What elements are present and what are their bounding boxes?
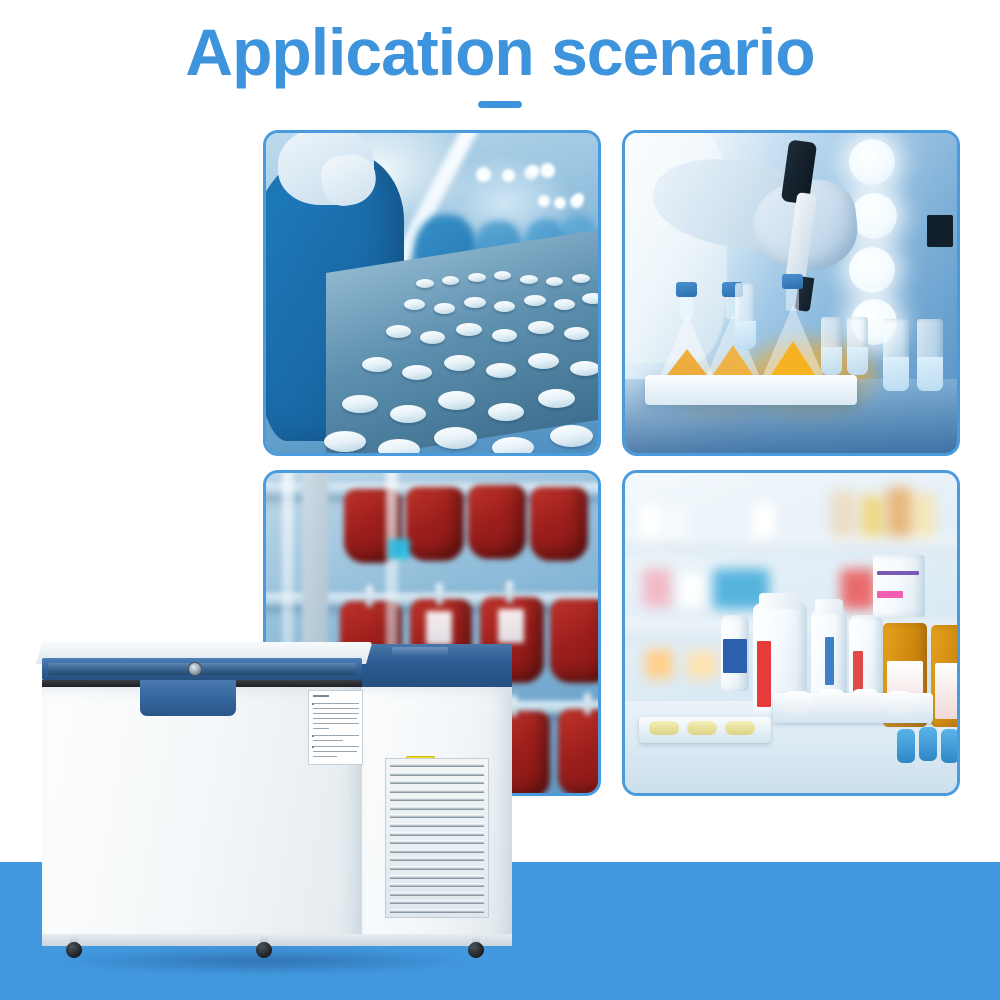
label-heading-line xyxy=(313,695,329,697)
louver-slat xyxy=(390,780,484,784)
product-image-ultra-low-temperature-freezer xyxy=(28,636,512,968)
title-underline-accent xyxy=(478,101,522,108)
flask-liquid xyxy=(667,349,707,375)
louver-slat xyxy=(390,806,484,810)
background-product xyxy=(831,491,855,537)
pharmaceutical-production-photo xyxy=(266,133,598,453)
background-product xyxy=(841,569,875,609)
caster-tyre xyxy=(66,942,82,958)
page-title: Application scenario xyxy=(0,18,1000,87)
graduated-cylinder xyxy=(847,317,868,375)
louver-slat xyxy=(390,832,484,836)
cylinder-liquid xyxy=(735,321,756,349)
test-tube xyxy=(883,319,909,391)
capsule-white xyxy=(817,689,845,711)
blood-bag xyxy=(550,599,598,683)
flask-liquid xyxy=(771,341,815,375)
louver-stack xyxy=(390,763,484,913)
flask-cap xyxy=(782,274,803,289)
capsule-yellow xyxy=(687,721,717,735)
caster-tyre xyxy=(256,942,272,958)
vial-label xyxy=(935,663,957,719)
carton-stripe xyxy=(877,591,903,598)
capsule-yellow xyxy=(649,721,679,735)
compressor-top-cap xyxy=(362,644,512,687)
capsule-white xyxy=(783,691,811,713)
scenario-card-pharmaceutical-production[interactable] xyxy=(263,130,601,456)
laboratory-pipetting-photo xyxy=(625,133,957,453)
louver-slat xyxy=(390,789,484,793)
caster-wheel xyxy=(66,936,82,958)
caster-wheel xyxy=(468,936,484,958)
louver-slat xyxy=(390,857,484,861)
louver-slat xyxy=(390,892,484,896)
tablet-cluster xyxy=(266,133,598,453)
background-product xyxy=(643,569,671,607)
louver-slat xyxy=(390,763,484,767)
louver-slat xyxy=(390,900,484,904)
louver-slat xyxy=(390,840,484,844)
louver-slat xyxy=(390,883,484,887)
background-product xyxy=(861,495,883,537)
bottle-label-band xyxy=(825,637,834,685)
equipment-dark-panel xyxy=(927,215,953,247)
scenario-card-laboratory-research[interactable] xyxy=(622,130,960,456)
louver-slat xyxy=(390,823,484,827)
medicine-carton xyxy=(873,555,925,617)
background-product xyxy=(645,649,673,679)
background-product xyxy=(913,493,935,537)
flask-liquid xyxy=(713,345,753,375)
louver-slat xyxy=(390,875,484,879)
blood-bag xyxy=(468,485,526,559)
application-scenario-page: Application scenario xyxy=(0,0,1000,1000)
background-product xyxy=(679,573,705,607)
capsule-yellow xyxy=(725,721,755,735)
lid-lock[interactable] xyxy=(188,662,202,676)
lab-round-light xyxy=(849,247,895,293)
carton-stripe xyxy=(877,571,919,575)
capsule-white xyxy=(885,691,913,713)
bottle-cap xyxy=(759,593,801,609)
background-product xyxy=(751,503,775,537)
bottle-cap xyxy=(815,599,843,613)
louver-slat xyxy=(390,772,484,776)
louver-slat xyxy=(390,814,484,818)
capsule-blue xyxy=(919,727,937,761)
graduated-cylinder xyxy=(821,317,842,375)
louver-slat xyxy=(390,797,484,801)
caster-wheel xyxy=(256,936,272,958)
test-tube xyxy=(917,319,943,391)
capsule-white xyxy=(851,689,879,711)
bottle-label-band xyxy=(757,641,771,707)
louver-slat xyxy=(390,866,484,870)
condenser-vent-grille xyxy=(385,758,489,918)
tube-liquid xyxy=(917,357,943,391)
indicator-chip xyxy=(388,539,410,559)
louver-slat xyxy=(390,909,484,913)
lid-handle[interactable] xyxy=(140,680,236,716)
tube-liquid xyxy=(883,357,909,391)
bottle-label-band xyxy=(723,639,747,673)
graduated-cylinder xyxy=(735,283,756,349)
capsule-blue xyxy=(941,729,957,763)
cylinder-liquid xyxy=(847,347,868,375)
blood-bag xyxy=(530,487,588,561)
background-product xyxy=(667,507,687,537)
freezer-lid-front-rail xyxy=(42,658,362,680)
background-product xyxy=(639,505,661,537)
cylinder-liquid xyxy=(821,347,842,375)
blood-bag-tube xyxy=(584,693,591,715)
caster-tyre xyxy=(468,942,484,958)
blood-bag-tube xyxy=(506,581,513,603)
lab-round-light xyxy=(851,193,897,239)
louver-slat xyxy=(390,849,484,853)
display-shelf xyxy=(625,537,957,551)
blood-bag-tube xyxy=(366,585,373,607)
page-header: Application scenario xyxy=(0,18,1000,108)
safety-warning-label xyxy=(308,690,363,765)
blood-bag xyxy=(558,709,598,793)
scenario-card-pharmacy-retail[interactable] xyxy=(622,470,960,796)
background-product xyxy=(687,651,717,679)
lab-round-light xyxy=(849,139,895,185)
pharmacy-medicine-shelves-photo xyxy=(625,473,957,793)
flask-cap xyxy=(676,282,697,297)
capsule-blue xyxy=(897,729,915,763)
flask-rack xyxy=(645,375,857,405)
blood-bag xyxy=(406,487,464,561)
blood-bag-tube xyxy=(436,583,443,605)
background-product xyxy=(887,487,911,537)
